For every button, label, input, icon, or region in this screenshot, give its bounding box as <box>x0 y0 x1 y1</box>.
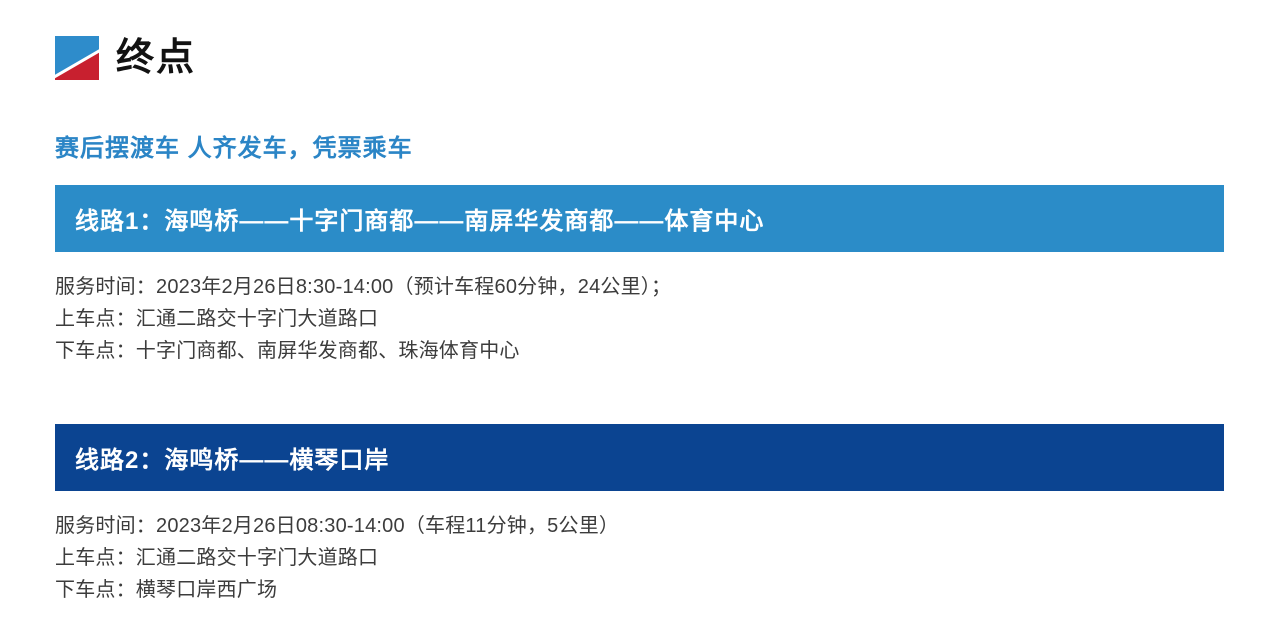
route-2-service-time: 服务时间：2023年2月26日08:30-14:00（车程11分钟，5公里） <box>55 510 1224 542</box>
subheadline: 赛后摆渡车 人齐发车，凭票乘车 <box>55 128 413 163</box>
route-1-boarding-point: 上车点：汇通二路交十字门大道路口 <box>55 303 1224 335</box>
route-banner-2: 线路2：海鸣桥——横琴口岸 <box>55 424 1224 491</box>
route-details-2: 服务时间：2023年2月26日08:30-14:00（车程11分钟，5公里） 上… <box>55 491 1224 606</box>
route-banner-1-label: 线路1：海鸣桥——十字门商都——南屏华发商都——体育中心 <box>75 201 764 236</box>
flag-mark-icon <box>55 36 99 80</box>
route-1-service-time: 服务时间：2023年2月26日8:30-14:00（预计车程60分钟，24公里）… <box>55 271 1224 303</box>
route-block-2: 线路2：海鸣桥——横琴口岸 服务时间：2023年2月26日08:30-14:00… <box>55 424 1224 606</box>
page-root: 终点 赛后摆渡车 人齐发车，凭票乘车 线路1：海鸣桥——十字门商都——南屏华发商… <box>0 0 1280 643</box>
page-title: 终点 <box>116 39 196 77</box>
route-2-drop-off-point: 下车点：横琴口岸西广场 <box>55 574 1224 606</box>
route-1-drop-off-point: 下车点：十字门商都、南屏华发商都、珠海体育中心 <box>55 335 1224 367</box>
route-2-boarding-point: 上车点：汇通二路交十字门大道路口 <box>55 542 1224 574</box>
route-banner-1: 线路1：海鸣桥——十字门商都——南屏华发商都——体育中心 <box>55 185 1224 252</box>
route-block-1: 线路1：海鸣桥——十字门商都——南屏华发商都——体育中心 服务时间：2023年2… <box>55 185 1224 367</box>
route-details-1: 服务时间：2023年2月26日8:30-14:00（预计车程60分钟，24公里）… <box>55 252 1224 367</box>
page-header: 终点 <box>55 36 196 80</box>
route-banner-2-label: 线路2：海鸣桥——横琴口岸 <box>75 440 389 475</box>
